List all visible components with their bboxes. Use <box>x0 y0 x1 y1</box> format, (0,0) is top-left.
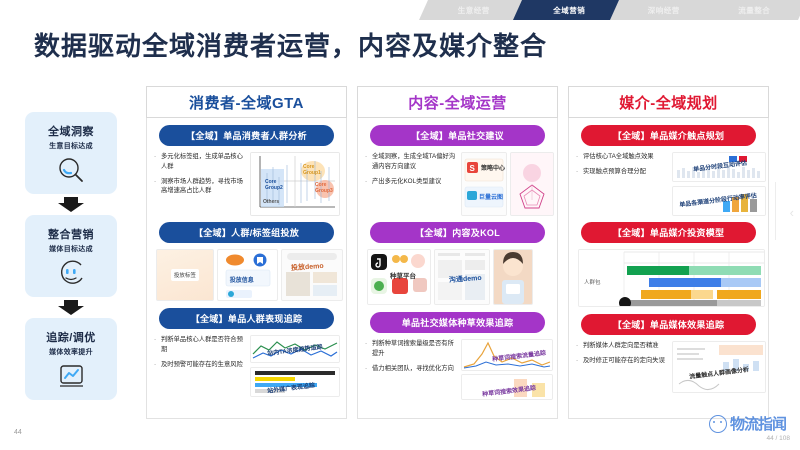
thumbnail-group: 流量触点人群画像分析 <box>672 341 766 393</box>
nav-tab-label: 全域营销 <box>553 5 585 16</box>
bullet-list: ·判断媒体人群定向是否精准 ·及时修正可能存在的定向失误 <box>575 341 668 393</box>
bullet-list: ·全域洞察，生成全域TA偏好沟通内容方向建议 ·产出多元化KOL类型建议 <box>364 152 457 216</box>
chat-demo-thumb[interactable]: 沟通demo <box>434 249 490 305</box>
sidebar-item-subtitle: 媒体目标达成 <box>49 244 93 254</box>
block-social-suggestion: ·全域洞察，生成全域TA偏好沟通内容方向建议 ·产出多元化KOL类型建议 S <box>364 152 551 216</box>
sidebar-item-subtitle: 媒体效率提升 <box>49 347 93 357</box>
column-header: 媒介-全域规划 <box>568 86 769 118</box>
svg-text:S: S <box>470 164 476 173</box>
column-header: 消费者-全域GTA <box>146 86 347 118</box>
svg-text:Group3: Group3 <box>315 188 333 194</box>
offsite-trend-thumb[interactable]: 站外媒广表现追踪 <box>250 367 340 397</box>
column-consumer: 消费者-全域GTA 【全域】单品消费者人群分析 ·多元化标签组，生成单品核心人群… <box>146 86 347 419</box>
social-app-logos-thumb[interactable]: 种草平台 <box>367 249 431 305</box>
sidebar-item-title: 全域洞察 <box>48 123 94 139</box>
thumbnail-group: Core Group2 Core Group1 Core Group3 Othe… <box>250 152 340 216</box>
badge-audience-tag-delivery[interactable]: 【全域】人群/标签组投放 <box>159 222 334 243</box>
bullet-dot: · <box>576 341 583 351</box>
search-effect-chart-thumb[interactable]: 种草词搜索效果追踪 <box>461 374 553 400</box>
nav-tab-label: 生意经营 <box>458 5 490 16</box>
onsite-trend-thumb[interactable]: 站内TA浓度趋势追踪 <box>250 335 340 363</box>
audience-pack-label: 人群包 <box>584 278 601 286</box>
platform-logos-thumb[interactable]: 投放信息 <box>217 249 279 301</box>
pillar-columns: 消费者-全域GTA 【全域】单品消费者人群分析 ·多元化标签组，生成单品核心人群… <box>146 86 771 419</box>
media-gantt-thumb[interactable]: 人群包 <box>578 249 765 307</box>
bullet-dot: · <box>154 152 161 172</box>
bullet-dot: · <box>365 339 372 359</box>
cloud-map-label: 巨量云图 <box>479 192 503 201</box>
strategy-center-thumb[interactable]: S 策略中心 巨量云图 <box>461 152 507 216</box>
bullet-item: ·实现触点预算合理分配 <box>576 167 668 177</box>
smiley-face-icon <box>56 260 86 291</box>
sidebar-item-subtitle: 生意目标达成 <box>49 141 93 151</box>
face-logo-icon <box>709 415 727 433</box>
top-nav-tabs[interactable]: 生意经营 全域营销 深响经营 流量整合 <box>428 0 800 20</box>
sidebar-item-tracking-optimize[interactable]: 追踪/调优 媒体效率提升 <box>25 318 117 400</box>
audience-profile-thumb[interactable]: 流量触点人群画像分析 <box>672 341 766 393</box>
bullet-dot: · <box>365 152 372 172</box>
nav-tab-3[interactable]: 流量整合 <box>710 0 798 20</box>
bullet-item: ·判断媒体人群定向是否精准 <box>576 341 668 351</box>
chevron-left-icon[interactable]: ‹ <box>790 205 794 220</box>
svg-text:Group2: Group2 <box>265 185 283 191</box>
channel-stage-thumb[interactable]: 单品各渠道分阶段行动率评估 <box>672 186 766 216</box>
bullet-text: 判断媒体人群定向是否精准 <box>583 341 668 351</box>
bullet-list: ·评估核心TA全域触点效果 ·实现触点预算合理分配 <box>575 152 668 216</box>
bullet-dot: · <box>365 364 372 374</box>
watermark-text: 物流指闻 <box>730 413 786 434</box>
bullet-dot: · <box>576 167 583 177</box>
down-arrow-icon-2 <box>25 300 117 315</box>
badge-content-kol[interactable]: 【全域】内容及KOL <box>370 222 545 243</box>
page-title: 数据驱动全域消费者运营，内容及媒介整合 <box>34 26 547 63</box>
bullet-item: ·及时预警可能存在的生意风险 <box>154 360 246 370</box>
nav-tab-label: 流量整合 <box>738 5 770 16</box>
bullet-dot: · <box>576 152 583 162</box>
bullet-list: ·判断种草词搜索量级是否有所提升 ·借力相关团队，寻找优化方向 <box>364 339 457 400</box>
badge-touchpoint-planning[interactable]: 【全域】单品媒介触点规划 <box>581 125 756 146</box>
bullet-item: ·判断单品核心人群是否符合预期 <box>154 335 246 355</box>
bullet-dot: · <box>154 335 161 355</box>
delivery-demo-thumb[interactable]: 投放demo <box>281 249 343 301</box>
bullet-item: ·评估核心TA全域触点效果 <box>576 152 668 162</box>
block-audience-delivery: 投放标签 投放信息 <box>156 249 343 301</box>
bullet-item: ·判断种草词搜索量级是否有所提升 <box>365 339 457 359</box>
bullet-dot: · <box>576 356 583 366</box>
bullet-list: ·判断单品核心人群是否符合预期 ·及时预警可能存在的生意风险 <box>153 335 246 397</box>
search-volume-chart-thumb[interactable]: 种草词搜索流量追踪 <box>461 339 553 371</box>
sidebar-item-insight[interactable]: 全域洞察 生意目标达成 <box>25 112 117 194</box>
thumbnail-group: 种草词搜索流量追踪 种草词搜索效果追踪 <box>461 339 553 400</box>
thumbnail-group: S 策略中心 巨量云图 <box>461 152 554 216</box>
line-chart-icon <box>56 363 86 394</box>
column-header: 内容-全域运营 <box>357 86 558 118</box>
page-counter: 44 / 108 <box>767 435 791 442</box>
svg-text:Group1: Group1 <box>303 170 321 176</box>
bullet-dot: · <box>154 177 161 197</box>
kol-portrait-thumb[interactable] <box>493 249 533 305</box>
column-media: 媒介-全域规划 【全域】单品媒介触点规划 ·评估核心TA全域触点效果 ·实现触点… <box>568 86 769 419</box>
block-touchpoint-planning: ·评估核心TA全域触点效果 ·实现触点预算合理分配 <box>575 152 762 216</box>
column-content: 内容-全域运营 【全域】单品社交建议 ·全域洞察，生成全域TA偏好沟通内容方向建… <box>357 86 558 419</box>
svg-text:Others: Others <box>263 199 279 205</box>
bullet-text: 判断单品核心人群是否符合预期 <box>161 335 246 355</box>
bullet-text: 洞察市场人群趋势，寻找市场高增速高占比人群 <box>161 177 246 197</box>
tag-cloud-thumb[interactable]: 投放标签 <box>156 249 214 301</box>
right-divider <box>775 182 776 240</box>
badge-seeding-tracking[interactable]: 单品社交媒体种草效果追踪 <box>370 312 545 333</box>
sidebar-item-title: 追踪/调优 <box>46 329 96 345</box>
block-consumer-analysis: ·多元化标签组，生成单品核心人群 ·洞察市场人群趋势，寻找市场高增速高占比人群 <box>153 152 340 216</box>
nav-tab-1-active[interactable]: 全域营销 <box>522 0 617 20</box>
radar-chart-thumb[interactable] <box>510 152 554 216</box>
bullet-text: 评估核心TA全域触点效果 <box>583 152 668 162</box>
slide-number: 44 <box>14 429 22 436</box>
bullet-item: ·多元化标签组，生成单品核心人群 <box>154 152 246 172</box>
badge-media-effect-tracking[interactable]: 【全域】单品媒体效果追踪 <box>581 314 756 335</box>
bullet-item: ·产出多元化KOL类型建议 <box>365 177 457 187</box>
bullet-text: 及时预警可能存在的生意风险 <box>161 360 246 370</box>
badge-audience-tracking[interactable]: 【全域】单品人群表现追踪 <box>159 308 334 329</box>
block-audience-tracking: ·判断单品核心人群是否符合预期 ·及时预警可能存在的生意风险 站内TA浓度趋势追… <box>153 335 340 397</box>
block-investment-model: 人群包 <box>578 249 765 307</box>
down-arrow-icon-1 <box>25 197 117 212</box>
nav-tab-2[interactable]: 深响经营 <box>619 0 709 20</box>
badge-social-suggestion[interactable]: 【全域】单品社交建议 <box>370 125 545 146</box>
bullet-dot: · <box>365 177 372 187</box>
bullet-dot: · <box>154 360 161 370</box>
bullet-item: ·及时修正可能存在的定向失误 <box>576 356 668 366</box>
bullet-item: ·洞察市场人群趋势，寻找市场高增速高占比人群 <box>154 177 246 197</box>
bullet-text: 及时修正可能存在的定向失误 <box>583 356 668 366</box>
badge-investment-model[interactable]: 【全域】单品媒介投资模型 <box>581 222 756 243</box>
bullet-item: ·借力相关团队，寻找优化方向 <box>365 364 457 374</box>
scatter-quadrant-thumb[interactable]: Core Group2 Core Group1 Core Group3 Othe… <box>250 152 340 216</box>
magnifier-icon <box>56 157 86 188</box>
nav-tab-label: 深响经营 <box>648 5 680 16</box>
block-media-effect-tracking: ·判断媒体人群定向是否精准 ·及时修正可能存在的定向失误 流量触点人群画像分析 <box>575 341 762 393</box>
bullet-item: ·全域洞察，生成全域TA偏好沟通内容方向建议 <box>365 152 457 172</box>
thumbnail-group: 单品分时段互动评估 单品各渠道分阶段行动率评估 <box>672 152 766 216</box>
block-content-kol: 种草平台 沟通demo <box>367 249 554 305</box>
sidebar-item-integrated-marketing[interactable]: 整合营销 媒体目标达成 <box>25 215 117 297</box>
bullet-text: 产出多元化KOL类型建议 <box>372 177 457 187</box>
watermark: 物流指闻 <box>709 413 786 434</box>
badge-consumer-analysis[interactable]: 【全域】单品消费者人群分析 <box>159 125 334 146</box>
bullet-text: 实现触点预算合理分配 <box>583 167 668 177</box>
sidebar-item-title: 整合营销 <box>48 226 94 242</box>
thumbnail-group: 站内TA浓度趋势追踪 站外媒广表现追踪 <box>250 335 340 397</box>
tag-cloud-label: 投放标签 <box>171 269 199 281</box>
bullet-text: 全域洞察，生成全域TA偏好沟通内容方向建议 <box>372 152 457 172</box>
block-seeding-tracking: ·判断种草词搜索量级是否有所提升 ·借力相关团队，寻找优化方向 种草词搜索流量追… <box>364 339 551 400</box>
bullet-text: 判断种草词搜索量级是否有所提升 <box>372 339 457 359</box>
bullet-text: 多元化标签组，生成单品核心人群 <box>161 152 246 172</box>
stage-sidebar: 全域洞察 生意目标达成 整合营销 媒体目标达成 追踪/调优 媒 <box>25 112 117 400</box>
bullet-text: 借力相关团队，寻找优化方向 <box>372 364 457 374</box>
bullet-list: ·多元化标签组，生成单品核心人群 ·洞察市场人群趋势，寻找市场高增速高占比人群 <box>153 152 246 216</box>
seeding-platform-label: 种草平台 <box>390 270 416 280</box>
platform-label: 投放信息 <box>230 275 254 284</box>
hourly-interaction-thumb[interactable]: 单品分时段互动评估 <box>672 152 766 182</box>
nav-tab-0[interactable]: 生意经营 <box>428 0 520 20</box>
strategy-center-label: 策略中心 <box>481 163 505 172</box>
